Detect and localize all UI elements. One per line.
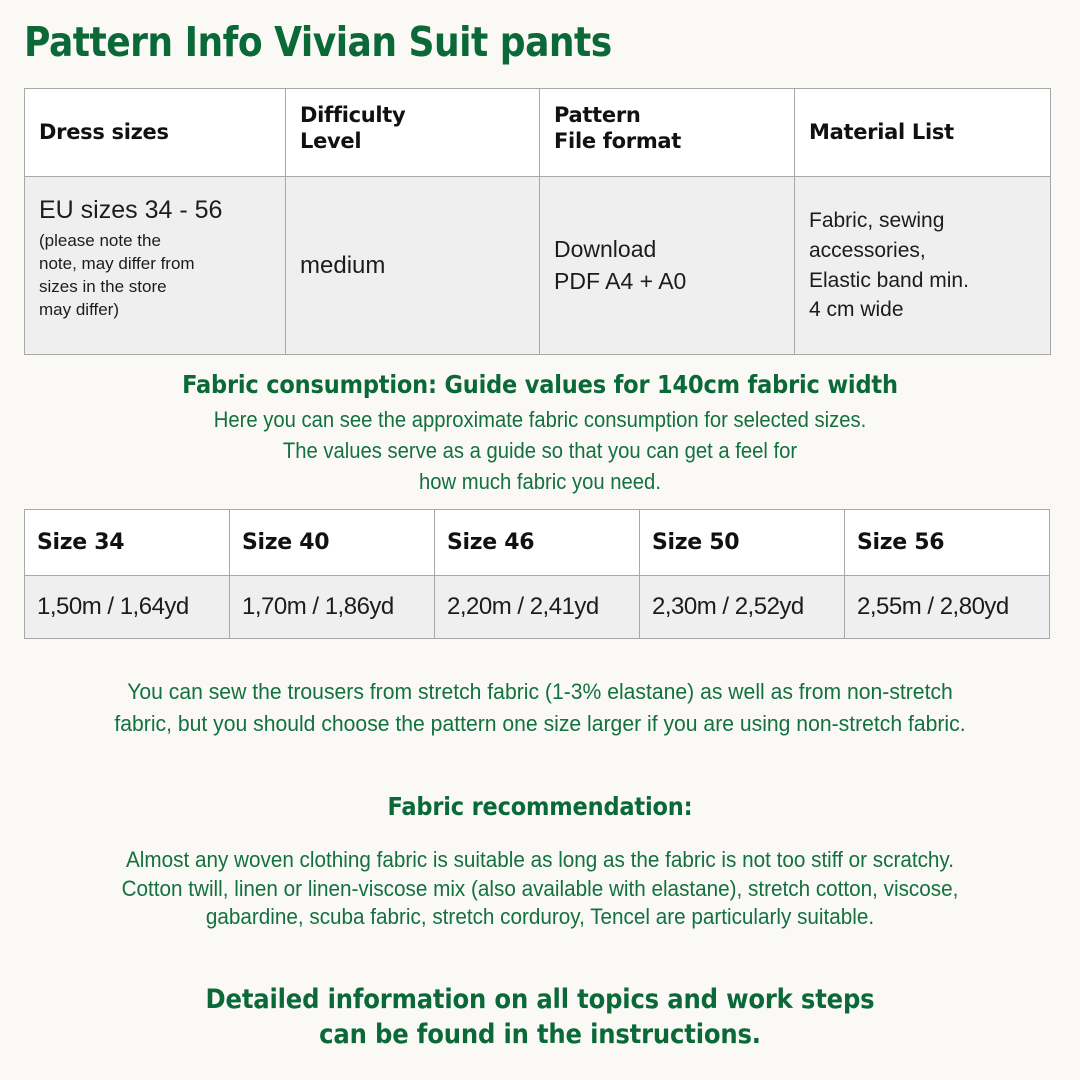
fabric-consumption-heading: Fabric consumption: Guide values for 140… xyxy=(54,370,1026,400)
material-list-value: Fabric, sewing accessories, Elastic band… xyxy=(809,206,1036,325)
fabric-recommendation-line: Almost any woven clothing fabric is suit… xyxy=(61,846,1020,875)
table-row: Dress sizes Difficulty Level Pattern Fil… xyxy=(25,89,1051,177)
fabric-recommendation-body: Almost any woven clothing fabric is suit… xyxy=(61,846,1020,932)
footer-line: can be found in the instructions. xyxy=(54,1018,1026,1053)
dress-sizes-note-line: sizes in the store xyxy=(39,275,271,298)
value-size-34: 1,50m / 1,64yd xyxy=(25,576,230,639)
footer-line: Detailed information on all topics and w… xyxy=(54,983,1026,1018)
fabric-consumption-subline: how much fabric you need. xyxy=(43,466,1037,497)
header-size-56: Size 56 xyxy=(845,510,1050,576)
page-title: Pattern Info Vivian Suit pants xyxy=(24,22,612,63)
cell-dress-sizes: EU sizes 34 - 56 (please note the note, … xyxy=(25,177,286,355)
table-row: 1,50m / 1,64yd 1,70m / 1,86yd 2,20m / 2,… xyxy=(25,576,1050,639)
header-size-50: Size 50 xyxy=(640,510,845,576)
size-table-header: Size 34 Size 40 Size 46 Size 50 Size 56 xyxy=(25,510,1050,576)
fabric-consumption-table: Size 34 Size 40 Size 46 Size 50 Size 56 … xyxy=(24,509,1050,639)
file-format-line: Download xyxy=(554,234,780,266)
file-format-value: Download PDF A4 + A0 xyxy=(554,234,780,297)
size-table-body: 1,50m / 1,64yd 1,70m / 1,86yd 2,20m / 2,… xyxy=(25,576,1050,639)
value-size-46: 2,20m / 2,41yd xyxy=(435,576,640,639)
material-list-line: accessories, xyxy=(809,236,1036,266)
difficulty-level-value: medium xyxy=(300,250,525,281)
info-table-header: Dress sizes Difficulty Level Pattern Fil… xyxy=(25,89,1051,177)
dress-sizes-note-line: (please note the xyxy=(39,229,271,252)
header-size-34: Size 34 xyxy=(25,510,230,576)
header-difficulty-level: Difficulty Level xyxy=(286,89,540,177)
material-list-line: 4 cm wide xyxy=(809,295,1036,325)
table-row: EU sizes 34 - 56 (please note the note, … xyxy=(25,177,1051,355)
cell-material-list: Fabric, sewing accessories, Elastic band… xyxy=(795,177,1051,355)
fabric-consumption-section: Fabric consumption: Guide values for 140… xyxy=(0,370,1080,498)
fabric-recommendation-heading: Fabric recommendation: xyxy=(54,792,1026,821)
dress-sizes-note-line: note, may differ from xyxy=(39,252,271,275)
file-format-line: PDF A4 + A0 xyxy=(554,266,780,298)
pattern-info-table: Dress sizes Difficulty Level Pattern Fil… xyxy=(24,88,1051,355)
value-size-40: 1,70m / 1,86yd xyxy=(230,576,435,639)
fabric-consumption-subline: Here you can see the approximate fabric … xyxy=(43,404,1037,435)
stretch-fabric-note: You can sew the trousers from stretch fa… xyxy=(61,676,1020,739)
header-pattern-line2: File format xyxy=(554,129,780,155)
header-difficulty-line1: Difficulty xyxy=(300,103,525,129)
stretch-note-line: fabric, but you should choose the patter… xyxy=(61,708,1020,740)
value-size-56: 2,55m / 2,80yd xyxy=(845,576,1050,639)
dress-sizes-note: (please note the note, may differ from s… xyxy=(39,229,271,321)
fabric-consumption-subtext: Here you can see the approximate fabric … xyxy=(43,404,1037,498)
cell-difficulty-level: medium xyxy=(286,177,540,355)
header-dress-sizes: Dress sizes xyxy=(25,89,286,177)
fabric-recommendation-line: gabardine, scuba fabric, stretch corduro… xyxy=(61,903,1020,932)
instructions-footer: Detailed information on all topics and w… xyxy=(54,983,1026,1052)
material-list-line: Fabric, sewing xyxy=(809,206,1036,236)
header-pattern-file-format: Pattern File format xyxy=(540,89,795,177)
header-size-46: Size 46 xyxy=(435,510,640,576)
table-row: Size 34 Size 40 Size 46 Size 50 Size 56 xyxy=(25,510,1050,576)
value-size-50: 2,30m / 2,52yd xyxy=(640,576,845,639)
cell-file-format: Download PDF A4 + A0 xyxy=(540,177,795,355)
header-difficulty-line2: Level xyxy=(300,129,525,155)
material-list-line: Elastic band min. xyxy=(809,266,1036,296)
dress-sizes-value: EU sizes 34 - 56 xyxy=(39,195,271,225)
stretch-note-line: You can sew the trousers from stretch fa… xyxy=(61,676,1020,708)
header-size-40: Size 40 xyxy=(230,510,435,576)
fabric-recommendation-line: Cotton twill, linen or linen-viscose mix… xyxy=(61,875,1020,904)
dress-sizes-note-line: may differ) xyxy=(39,298,271,321)
pattern-info-page: Pattern Info Vivian Suit pants Dress siz… xyxy=(0,0,1080,1080)
info-table-body: EU sizes 34 - 56 (please note the note, … xyxy=(25,177,1051,355)
header-material-list: Material List xyxy=(795,89,1051,177)
header-pattern-line1: Pattern xyxy=(554,103,780,129)
fabric-consumption-subline: The values serve as a guide so that you … xyxy=(43,435,1037,466)
